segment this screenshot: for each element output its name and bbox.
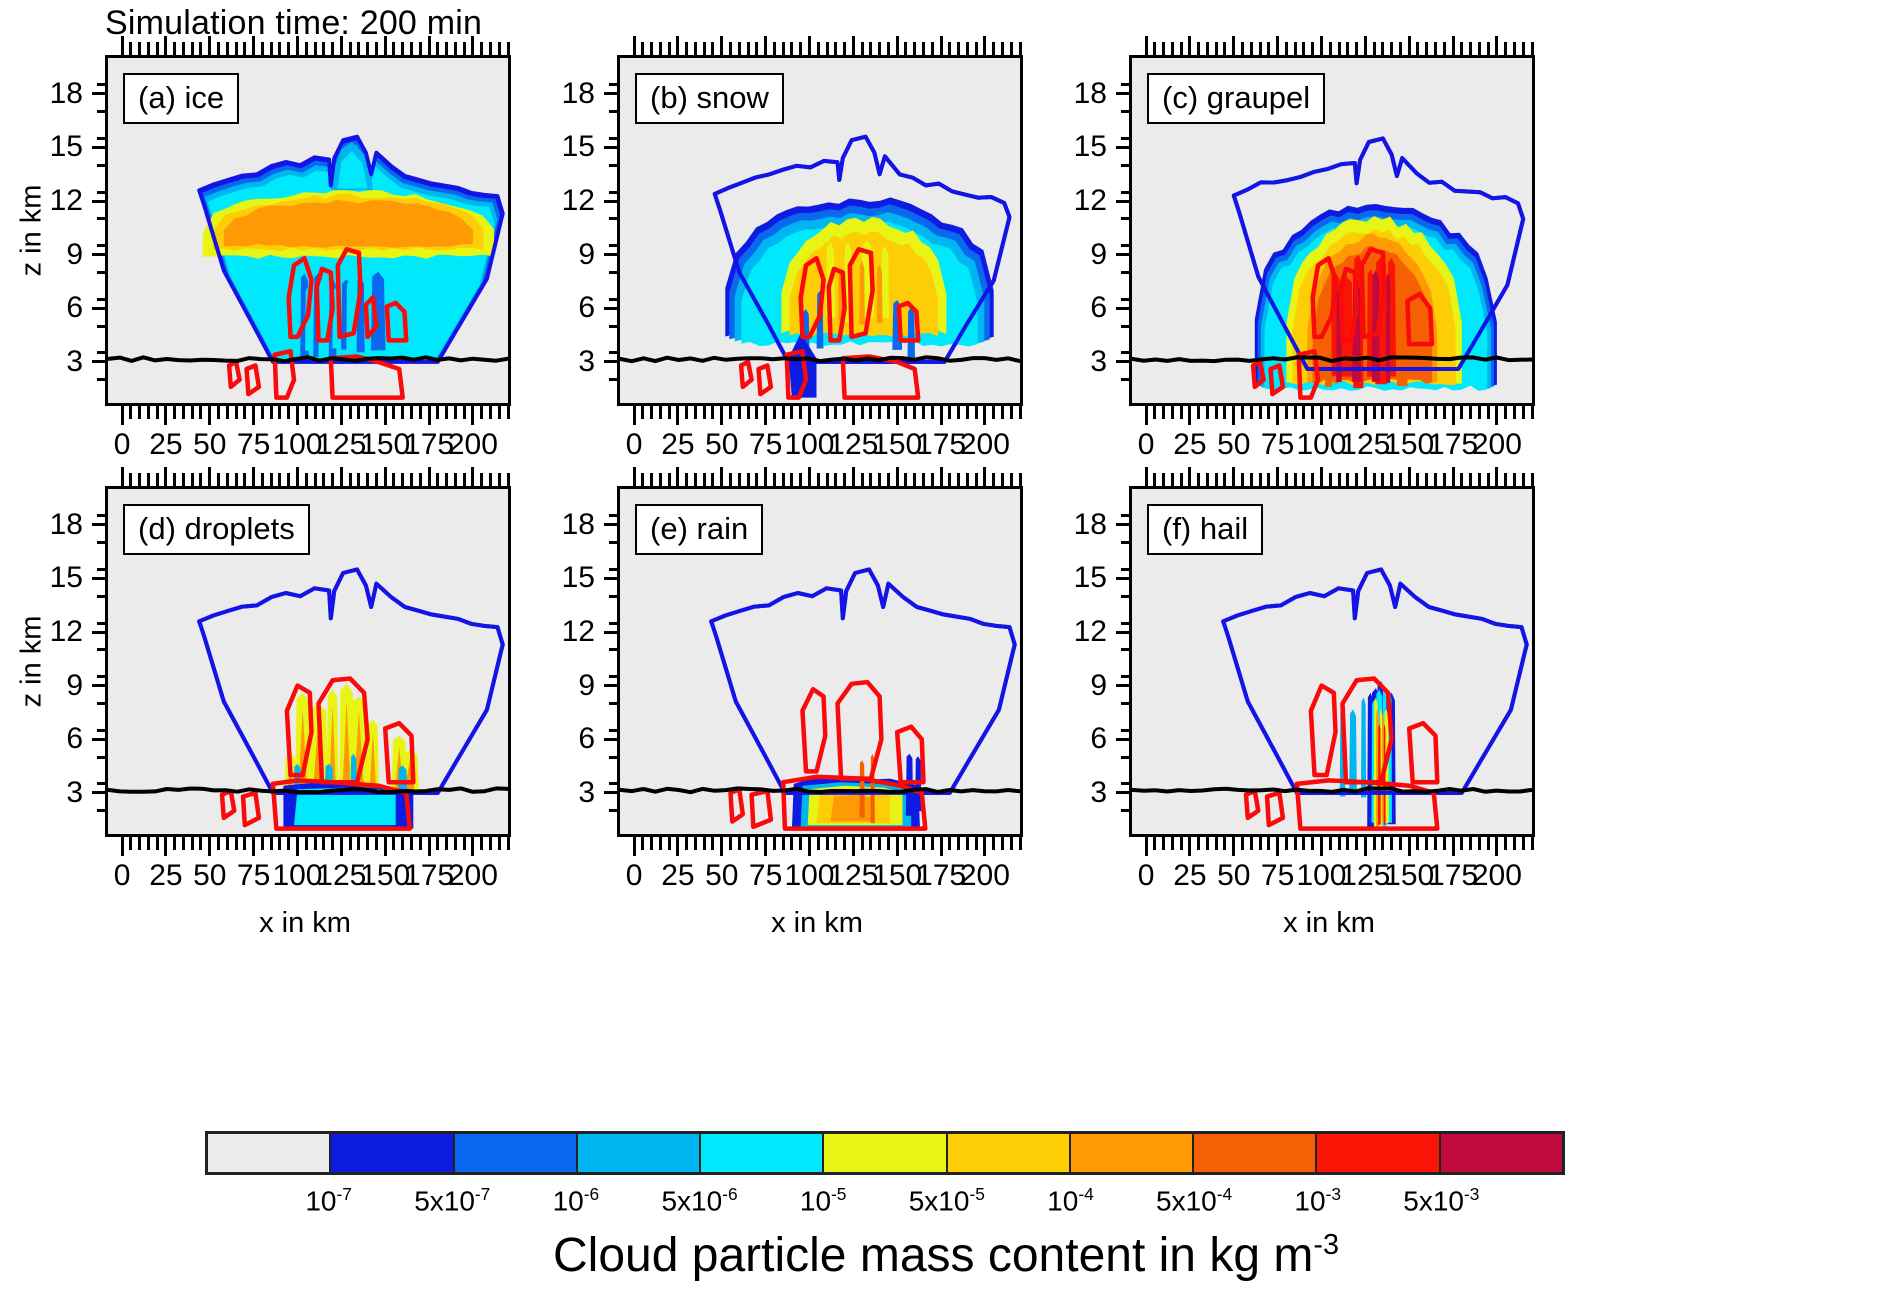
x-tick-minor-bottom: [659, 834, 662, 850]
x-tick-minor-top: [975, 42, 978, 58]
x-tick-minor-top: [948, 42, 951, 58]
x-tick-minor-top: [887, 473, 890, 489]
x-tick-minor-top: [156, 42, 159, 58]
x-tick-minor-top: [1338, 42, 1341, 58]
colorbar[interactable]: [205, 1131, 1565, 1175]
y-tick-major: [1116, 791, 1132, 794]
x-tick-minor-top: [1487, 473, 1490, 489]
colorbar-ticklabel: 5x10-7: [382, 1186, 522, 1215]
x-tick-minor-bottom: [1504, 403, 1507, 419]
x-tick-minor-top: [685, 42, 688, 58]
y-tick-minor: [1121, 191, 1132, 194]
colorbar-tick-exponent: -7: [336, 1184, 351, 1204]
colorbar-segment[interactable]: [1071, 1134, 1194, 1172]
x-tick-minor-top: [650, 473, 653, 489]
x-tick-minor-top: [1487, 42, 1490, 58]
x-tick-minor-top: [182, 473, 185, 489]
x-tick-minor-top: [904, 473, 907, 489]
y-tick-minor: [97, 622, 108, 625]
x-tick-major-bottom: [1232, 403, 1235, 425]
x-tick-minor-bottom: [226, 403, 229, 419]
x-tick-minor-top: [966, 473, 969, 489]
y-tick-major: [92, 92, 108, 95]
y-tick-minor: [97, 325, 108, 328]
y-ticklabel: 15: [1049, 132, 1107, 162]
x-tick-minor-bottom: [1215, 403, 1218, 419]
x-tick-minor-bottom: [138, 834, 141, 850]
y-tick-minor: [97, 702, 108, 705]
x-tick-minor-top: [1180, 473, 1183, 489]
x-tick-minor-top: [790, 473, 793, 489]
x-tick-minor-bottom: [331, 403, 334, 419]
x-tick-minor-top: [992, 473, 995, 489]
x-tick-minor-top: [869, 42, 872, 58]
x-tick-major-top: [1188, 36, 1191, 58]
x-tick-major-bottom: [808, 403, 811, 425]
x-tick-minor-top: [1460, 42, 1463, 58]
x-tick-major-top: [633, 36, 636, 58]
x-tick-minor-bottom: [1311, 403, 1314, 419]
x-tick-major-top: [1232, 36, 1235, 58]
y-tick-major: [604, 577, 620, 580]
y-tick-minor: [609, 782, 620, 785]
x-tick-minor-bottom: [287, 403, 290, 419]
x-tick-minor-top: [755, 473, 758, 489]
x-tick-minor-bottom: [375, 834, 378, 850]
x-tick-minor-bottom: [1223, 403, 1226, 419]
x-tick-minor-top: [401, 42, 404, 58]
y-tick-minor: [609, 568, 620, 571]
x-tick-minor-top: [278, 473, 281, 489]
x-tick-minor-bottom: [1425, 403, 1428, 419]
x-tick-major-top: [121, 36, 124, 58]
y-tick-minor: [97, 568, 108, 571]
x-tick-minor-bottom: [1180, 834, 1183, 850]
x-tick-minor-top: [1206, 42, 1209, 58]
y-tick-minor: [97, 351, 108, 354]
x-tick-minor-top: [436, 42, 439, 58]
x-tick-major-bottom: [720, 834, 723, 856]
x-tick-minor-top: [129, 473, 132, 489]
x-tick-minor-top: [878, 473, 881, 489]
x-tick-minor-top: [878, 42, 881, 58]
x-tick-minor-top: [1416, 42, 1419, 58]
x-tick-major-top: [896, 467, 899, 489]
x-tick-minor-top: [1531, 42, 1534, 58]
x-tick-minor-bottom: [1329, 403, 1332, 419]
y-tick-minor: [97, 782, 108, 785]
y-ticklabel: 15: [537, 132, 595, 162]
colorbar-segment[interactable]: [331, 1134, 454, 1172]
colorbar-ticklabel: 5x10-6: [630, 1186, 770, 1215]
y-tick-minor: [1121, 83, 1132, 86]
x-tick-minor-top: [1215, 473, 1218, 489]
y-tick-minor: [1121, 568, 1132, 571]
x-tick-minor-top: [957, 473, 960, 489]
y-tick-major: [1116, 684, 1132, 687]
y-tick-major: [92, 684, 108, 687]
y-tick-minor: [1121, 110, 1132, 113]
x-tick-major-bottom: [296, 834, 299, 856]
x-tick-minor-bottom: [887, 834, 890, 850]
y-tick-minor: [1121, 351, 1132, 354]
x-tick-minor-bottom: [1019, 834, 1022, 850]
x-tick-minor-bottom: [235, 403, 238, 419]
x-tick-major-bottom: [676, 834, 679, 856]
x-tick-minor-top: [1390, 473, 1393, 489]
y-tick-minor: [97, 271, 108, 274]
x-tick-major-top: [764, 36, 767, 58]
x-tick-minor-top: [1019, 473, 1022, 489]
x-tick-minor-top: [366, 42, 369, 58]
x-tick-minor-bottom: [1460, 403, 1463, 419]
x-tick-minor-top: [375, 473, 378, 489]
y-ticklabel: 6: [1049, 724, 1107, 754]
x-tick-major-bottom: [208, 834, 211, 856]
colorbar-tick-exponent: -6: [722, 1184, 737, 1204]
x-tick-minor-top: [817, 473, 820, 489]
x-tick-minor-top: [1504, 473, 1507, 489]
colorbar-tick-exponent: -3: [1326, 1184, 1341, 1204]
x-tick-major-top: [1408, 36, 1411, 58]
x-tick-minor-bottom: [217, 403, 220, 419]
y-tick-minor: [1121, 756, 1132, 759]
x-tick-minor-bottom: [1513, 834, 1516, 850]
colorbar-tick-exponent: -5: [969, 1184, 984, 1204]
x-tick-minor-bottom: [799, 834, 802, 850]
y-tick-minor: [1121, 137, 1132, 140]
x-tick-major-bottom: [852, 834, 855, 856]
x-tick-minor-top: [668, 473, 671, 489]
x-tick-major-bottom: [340, 403, 343, 425]
x-tick-minor-bottom: [641, 834, 644, 850]
x-tick-minor-top: [445, 473, 448, 489]
x-tick-minor-top: [287, 473, 290, 489]
x-tick-minor-top: [305, 473, 308, 489]
x-tick-minor-top: [173, 42, 176, 58]
x-tick-minor-top: [861, 473, 864, 489]
y-ticklabel: 15: [1049, 563, 1107, 593]
x-tick-minor-bottom: [156, 834, 159, 850]
y-tick-major: [1116, 92, 1132, 95]
x-tick-minor-top: [1223, 42, 1226, 58]
colorbar-tick-mantissa: 5x10: [909, 1185, 970, 1216]
x-tick-minor-top: [1338, 473, 1341, 489]
x-tick-minor-top: [659, 473, 662, 489]
colorbar-tick-exponent: -3: [1464, 1184, 1479, 1204]
y-tick-minor: [609, 137, 620, 140]
x-tick-minor-bottom: [1171, 403, 1174, 419]
x-tick-minor-top: [261, 473, 264, 489]
x-tick-major-bottom: [1408, 403, 1411, 425]
colorbar-segment[interactable]: [948, 1134, 1071, 1172]
x-tick-minor-bottom: [349, 834, 352, 850]
x-tick-minor-bottom: [445, 834, 448, 850]
x-tick-minor-top: [173, 473, 176, 489]
x-tick-major-top: [852, 467, 855, 489]
x-tick-minor-bottom: [1329, 834, 1332, 850]
x-tick-minor-top: [1171, 42, 1174, 58]
x-tick-major-top: [896, 36, 899, 58]
x-tick-minor-top: [375, 42, 378, 58]
y-tick-minor: [609, 298, 620, 301]
x-tick-major-top: [1452, 36, 1455, 58]
x-tick-minor-bottom: [782, 834, 785, 850]
y-tick-minor: [97, 595, 108, 598]
x-tick-minor-bottom: [270, 403, 273, 419]
x-tick-major-top: [340, 36, 343, 58]
x-tick-minor-bottom: [1197, 403, 1200, 419]
colorbar-title: Cloud particle mass content in kg m-3: [0, 1228, 1892, 1283]
x-tick-major-bottom: [1145, 834, 1148, 856]
y-tick-minor: [609, 514, 620, 517]
x-tick-minor-top: [1425, 473, 1428, 489]
x-tick-minor-top: [1469, 42, 1472, 58]
x-tick-minor-bottom: [869, 834, 872, 850]
y-ticklabel: 3: [1049, 778, 1107, 808]
x-tick-minor-bottom: [454, 834, 457, 850]
x-tick-minor-bottom: [366, 403, 369, 419]
x-tick-minor-top: [966, 42, 969, 58]
x-tick-minor-bottom: [480, 403, 483, 419]
x-ticklabel: 200: [439, 861, 507, 891]
x-tick-minor-bottom: [1443, 403, 1446, 419]
x-tick-minor-top: [992, 42, 995, 58]
x-tick-minor-bottom: [755, 403, 758, 419]
x-tick-minor-top: [287, 42, 290, 58]
x-tick-minor-bottom: [1434, 834, 1437, 850]
x-tick-minor-bottom: [685, 403, 688, 419]
x-tick-minor-bottom: [331, 834, 334, 850]
x-tick-minor-top: [948, 473, 951, 489]
x-tick-minor-bottom: [1250, 403, 1253, 419]
colorbar-segment[interactable]: [824, 1134, 947, 1172]
x-tick-major-bottom: [896, 403, 899, 425]
x-tick-minor-top: [1373, 473, 1376, 489]
x-tick-minor-bottom: [1416, 834, 1419, 850]
y-tick-minor: [609, 191, 620, 194]
x-tick-minor-bottom: [1171, 834, 1174, 850]
x-tick-major-bottom: [164, 834, 167, 856]
x-tick-minor-top: [507, 473, 510, 489]
x-tick-minor-top: [1162, 473, 1165, 489]
y-tick-major: [92, 360, 108, 363]
x-tick-minor-bottom: [1019, 403, 1022, 419]
x-tick-minor-top: [1329, 473, 1332, 489]
x-tick-minor-bottom: [992, 834, 995, 850]
x-tick-major-bottom: [208, 403, 211, 425]
x-tick-minor-bottom: [261, 403, 264, 419]
y-tick-minor: [609, 702, 620, 705]
x-tick-minor-bottom: [392, 834, 395, 850]
x-tick-minor-top: [1390, 42, 1393, 58]
y-tick-major: [92, 631, 108, 634]
x-tick-minor-bottom: [1259, 403, 1262, 419]
x-tick-minor-bottom: [1390, 834, 1393, 850]
x-tick-minor-top: [747, 42, 750, 58]
y-tick-minor: [1121, 675, 1132, 678]
x-tick-minor-top: [138, 42, 141, 58]
x-tick-minor-top: [913, 42, 916, 58]
x-tick-minor-bottom: [1434, 403, 1437, 419]
x-tick-minor-top: [357, 42, 360, 58]
x-tick-minor-top: [685, 473, 688, 489]
x-tick-minor-bottom: [729, 403, 732, 419]
x-tick-minor-bottom: [305, 403, 308, 419]
x-tick-minor-top: [243, 473, 246, 489]
x-tick-minor-bottom: [747, 834, 750, 850]
colorbar-ticklabel: 10-3: [1248, 1186, 1388, 1215]
y-tick-minor: [1121, 164, 1132, 167]
x-tick-minor-top: [1381, 42, 1384, 58]
y-ticklabel: 3: [1049, 347, 1107, 377]
x-tick-minor-top: [314, 473, 317, 489]
colorbar-segment[interactable]: [578, 1134, 701, 1172]
x-tick-minor-bottom: [1478, 834, 1481, 850]
x-tick-minor-top: [1259, 42, 1262, 58]
x-tick-minor-bottom: [747, 403, 750, 419]
x-tick-minor-top: [419, 42, 422, 58]
x-tick-minor-bottom: [1294, 403, 1297, 419]
x-tick-minor-top: [1522, 42, 1525, 58]
x-tick-minor-top: [694, 42, 697, 58]
x-tick-major-top: [1145, 36, 1148, 58]
colorbar-ticklabel: 10-7: [259, 1186, 399, 1215]
x-tick-minor-bottom: [1346, 834, 1349, 850]
y-tick-minor: [1121, 729, 1132, 732]
x-tick-minor-top: [1019, 42, 1022, 58]
colorbar-segment[interactable]: [701, 1134, 824, 1172]
x-tick-minor-top: [489, 473, 492, 489]
x-tick-minor-bottom: [992, 403, 995, 419]
y-tick-minor: [1121, 514, 1132, 517]
colorbar-segment[interactable]: [208, 1134, 331, 1172]
x-tick-minor-bottom: [243, 834, 246, 850]
x-tick-minor-bottom: [1311, 834, 1314, 850]
y-tick-minor: [609, 675, 620, 678]
x-tick-minor-top: [773, 42, 776, 58]
x-tick-minor-bottom: [1381, 834, 1384, 850]
x-tick-minor-top: [957, 42, 960, 58]
x-tick-minor-top: [226, 473, 229, 489]
x-tick-minor-bottom: [799, 403, 802, 419]
x-tick-minor-top: [1346, 473, 1349, 489]
x-tick-minor-bottom: [711, 834, 714, 850]
x-tick-major-bottom: [983, 403, 986, 425]
x-tick-minor-bottom: [305, 834, 308, 850]
x-tick-major-bottom: [1188, 834, 1191, 856]
x-tick-minor-top: [182, 42, 185, 58]
y-tick-major: [604, 200, 620, 203]
x-tick-minor-bottom: [1223, 834, 1226, 850]
x-tick-minor-top: [278, 42, 281, 58]
y-tick-minor: [609, 244, 620, 247]
y-ticklabel: 9: [537, 240, 595, 270]
y-tick-minor: [609, 595, 620, 598]
x-tick-major-bottom: [428, 403, 431, 425]
y-ticklabel: 18: [537, 79, 595, 109]
x-tick-minor-bottom: [235, 834, 238, 850]
x-tick-minor-top: [729, 42, 732, 58]
y-ticklabel: 6: [1049, 293, 1107, 323]
y-tick-minor: [609, 217, 620, 220]
x-tick-minor-top: [729, 473, 732, 489]
x-tick-minor-top: [694, 473, 697, 489]
colorbar-segment[interactable]: [1194, 1134, 1317, 1172]
x-tick-minor-top: [1162, 42, 1165, 58]
x-tick-minor-bottom: [1416, 403, 1419, 419]
x-tick-minor-bottom: [1206, 834, 1209, 850]
y-tick-major: [1116, 577, 1132, 580]
x-tick-minor-top: [322, 473, 325, 489]
x-tick-minor-bottom: [278, 403, 281, 419]
x-tick-minor-bottom: [1373, 403, 1376, 419]
x-tick-minor-top: [392, 473, 395, 489]
y-tick-major: [92, 577, 108, 580]
x-tick-major-bottom: [296, 403, 299, 425]
y-tick-minor: [609, 622, 620, 625]
y-ticklabel: 12: [1049, 186, 1107, 216]
y-tick-minor: [1121, 298, 1132, 301]
x-tick-major-bottom: [164, 403, 167, 425]
y-tick-major: [604, 738, 620, 741]
x-tick-minor-bottom: [650, 403, 653, 419]
x-tick-minor-bottom: [147, 403, 150, 419]
x-tick-major-top: [983, 467, 986, 489]
x-tick-major-bottom: [1364, 834, 1367, 856]
x-tick-minor-bottom: [1355, 403, 1358, 419]
colorbar-segment[interactable]: [1317, 1134, 1440, 1172]
x-tick-minor-top: [191, 473, 194, 489]
x-tick-minor-top: [331, 42, 334, 58]
x-tick-minor-top: [904, 42, 907, 58]
y-tick-major: [1116, 523, 1132, 526]
x-tick-minor-bottom: [861, 403, 864, 419]
x-tick-minor-top: [270, 42, 273, 58]
colorbar-segment[interactable]: [455, 1134, 578, 1172]
x-tick-major-top: [676, 36, 679, 58]
x-tick-minor-bottom: [401, 403, 404, 419]
colorbar-tick-mantissa: 10: [800, 1185, 831, 1216]
y-tick-minor: [1121, 541, 1132, 544]
x-tick-major-top: [1408, 467, 1411, 489]
x-tick-minor-top: [1197, 473, 1200, 489]
x-tick-minor-bottom: [641, 403, 644, 419]
x-tick-minor-top: [410, 42, 413, 58]
x-tick-minor-bottom: [436, 834, 439, 850]
y-tick-major: [604, 253, 620, 256]
x-tick-major-bottom: [1232, 834, 1235, 856]
x-tick-minor-bottom: [1399, 834, 1402, 850]
y-tick-minor: [609, 110, 620, 113]
x-tick-minor-top: [782, 473, 785, 489]
x-tick-minor-bottom: [650, 834, 653, 850]
x-tick-minor-top: [1443, 473, 1446, 489]
colorbar-tick-mantissa: 10: [553, 1185, 584, 1216]
colorbar-ticklabel: 10-5: [753, 1186, 893, 1215]
y-tick-minor: [609, 271, 620, 274]
x-tick-minor-top: [1425, 42, 1428, 58]
x-tick-minor-bottom: [1294, 834, 1297, 850]
colorbar-segment[interactable]: [1441, 1134, 1562, 1172]
x-tick-major-top: [852, 36, 855, 58]
x-tick-minor-top: [817, 42, 820, 58]
y-ticklabel: 18: [537, 510, 595, 540]
x-tick-minor-top: [843, 473, 846, 489]
x-tick-minor-top: [349, 42, 352, 58]
x-tick-minor-bottom: [199, 403, 202, 419]
y-tick-major: [1116, 146, 1132, 149]
